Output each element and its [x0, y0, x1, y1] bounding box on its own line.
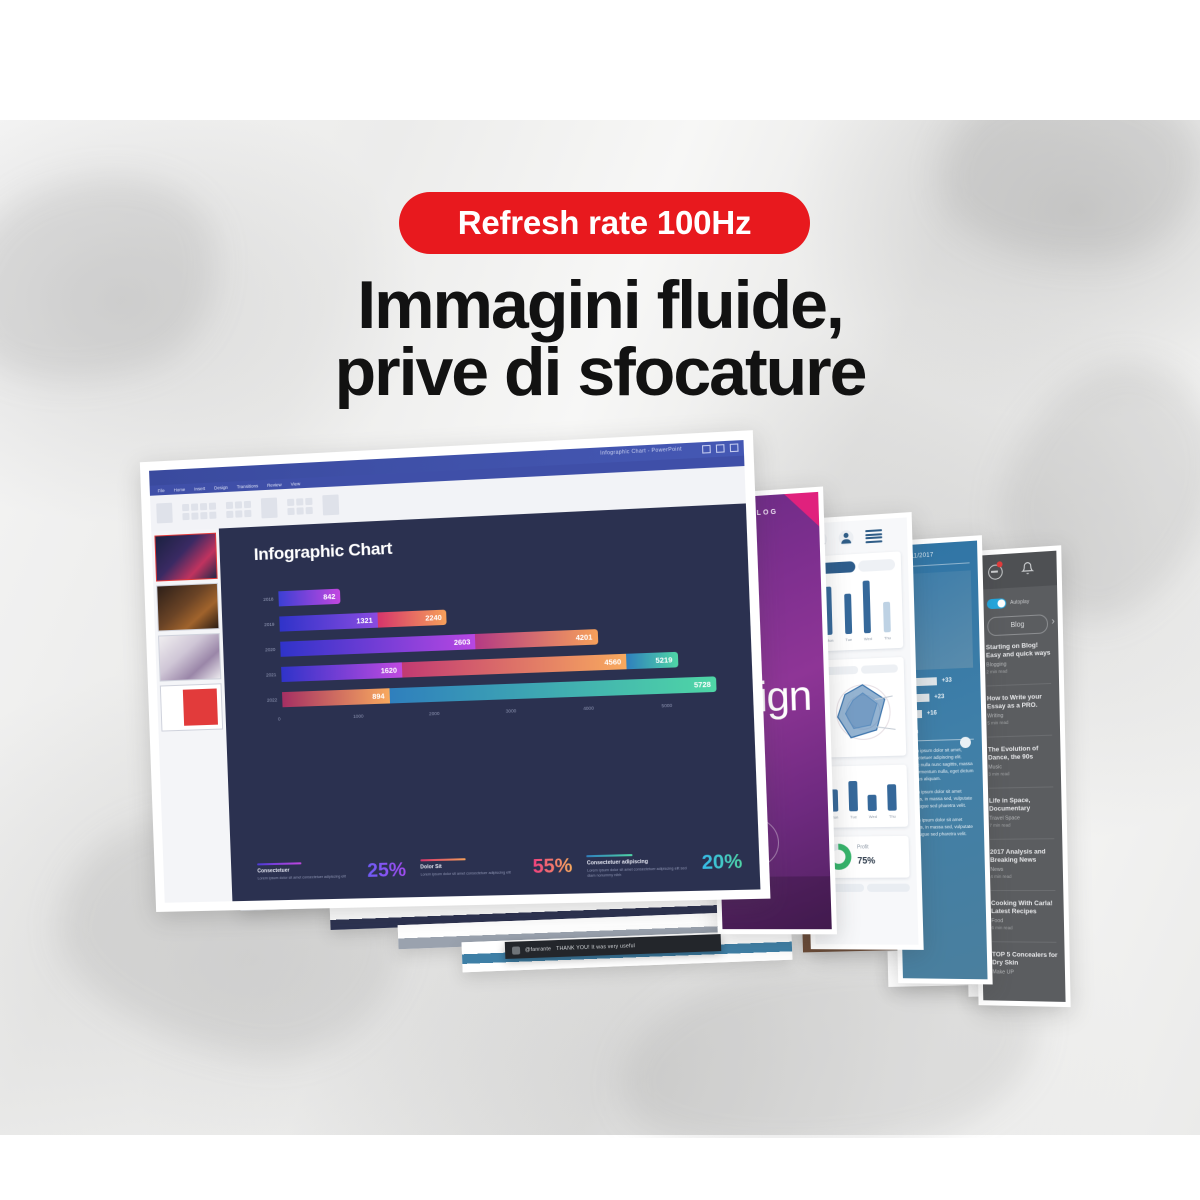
avatar — [512, 946, 520, 954]
stat-percent: 25% — [367, 859, 407, 882]
toast-message: THANK YOU! It was very useful — [556, 943, 635, 952]
stat-body: Lorem ipsum dolor sit amet consectetuer … — [420, 870, 526, 878]
axis-tick: Wed — [864, 636, 872, 641]
autoplay-toggle-row[interactable]: Autoplay — [975, 585, 1058, 616]
presentation-workspace: Infographic Chart 2018 842 2019 — [151, 503, 760, 902]
drawing-group[interactable] — [287, 498, 313, 515]
stat-value: +33 — [942, 678, 952, 684]
axis-tick: 1000 — [353, 711, 429, 719]
article-meta: 3 min read — [988, 770, 1054, 777]
slide-thumbnail-1[interactable] — [154, 533, 217, 582]
article-meta: 4 min read — [990, 874, 1056, 879]
slide-stats: Consectetuer Lorem ipsum dolor sit amet … — [257, 851, 743, 887]
editing-button[interactable] — [322, 494, 339, 515]
list-item[interactable]: The Evolution of Dance, the 90s Music 3 … — [978, 745, 1061, 777]
tab-stats[interactable] — [858, 559, 896, 572]
axis-tick: Thu — [884, 635, 891, 640]
blog-pill-label: Blog — [1011, 621, 1025, 629]
blog-pill-button[interactable]: Blog — [987, 614, 1048, 636]
promo-banner: Refresh rate 100Hz Immagini fluide, priv… — [0, 0, 1200, 1200]
slide-thumbnail-2[interactable] — [156, 583, 219, 632]
tab-view[interactable]: View — [291, 481, 301, 487]
bar-segment: 842 — [278, 589, 340, 607]
stat-percent: 55% — [532, 855, 573, 879]
article-category: Make UP — [992, 970, 1058, 977]
bar-segment: 894 — [282, 688, 390, 707]
tab-insert[interactable]: Insert — [194, 485, 205, 491]
article-meta: 5 min read — [987, 719, 1053, 726]
top-white-band — [0, 0, 1200, 120]
mini-bar-chart — [824, 776, 902, 812]
bar-segment: 2603 — [280, 634, 476, 657]
article-title: Starting on Blog! Easy and quick ways — [986, 641, 1052, 660]
profit-value: 75% — [857, 855, 875, 865]
profit-label: Profit — [857, 844, 875, 850]
tab-home[interactable]: Home — [174, 486, 186, 492]
divider — [987, 683, 1052, 687]
axis-tick: Tue — [850, 814, 857, 819]
bar-chart-axis: Mon Tue Wed Thu — [820, 635, 897, 643]
article-title: Life in Space, Documentary — [989, 797, 1055, 814]
refresh-rate-badge: Refresh rate 100Hz — [399, 192, 810, 254]
bottom-white-band — [0, 1138, 1200, 1200]
divider — [991, 890, 1056, 891]
bar-segment: 1620 — [281, 662, 402, 682]
menu-icon[interactable] — [865, 529, 882, 543]
article-meta: 6 min read — [991, 926, 1057, 932]
window-title: Infographic Chart - PowerPoint — [600, 446, 682, 456]
paragraph-group[interactable] — [226, 501, 252, 518]
notification-dot — [997, 561, 1003, 567]
axis-tick: 3000 — [506, 706, 584, 714]
divider — [992, 942, 1057, 944]
stat-block: Consectetuer adipiscing Lorem ipsum dolo… — [587, 851, 743, 879]
paste-button[interactable] — [156, 503, 173, 524]
article-category: Travel Space — [989, 815, 1055, 822]
axis-tick: Tue — [845, 637, 852, 642]
stat-label: Consectetuer — [257, 865, 361, 874]
row-category: 2021 — [246, 672, 281, 678]
slide-canvas[interactable]: Infographic Chart 2018 842 2019 — [219, 503, 761, 901]
font-group[interactable] — [182, 503, 216, 521]
row-category: 2022 — [247, 697, 282, 703]
slide-title: Infographic Chart — [253, 539, 392, 566]
axis-tick: Wed — [869, 814, 877, 819]
minimize-icon[interactable] — [702, 445, 711, 454]
list-item[interactable]: TOP 5 Concealers for Dry Skin Make UP — [982, 952, 1065, 977]
dark-screen-header — [974, 551, 1057, 590]
slide-thumbnail-3[interactable] — [158, 633, 221, 681]
radar-chart — [821, 678, 900, 749]
article-category: News — [990, 867, 1056, 873]
axis-tick: 0 — [278, 714, 353, 722]
list-item[interactable]: Starting on Blog! Easy and quick ways Bl… — [976, 641, 1059, 675]
stat-value: +16 — [927, 710, 937, 716]
stat-percent: 20% — [701, 851, 742, 875]
row-category: 2019 — [244, 622, 279, 628]
stat-accent-bar — [420, 858, 465, 861]
stat-block: Consectetuer Lorem ipsum dolor sit amet … — [257, 859, 406, 886]
bar-segment: 4201 — [475, 629, 598, 649]
axis-tick: 5000 — [661, 700, 740, 708]
badge-label: Refresh rate 100Hz — [458, 204, 752, 242]
page-title: Immagini fluide, prive di sfocature — [0, 272, 1200, 407]
presentation-window[interactable]: Infographic Chart - PowerPoint File Home… — [140, 430, 771, 912]
article-title: The Evolution of Dance, the 90s — [988, 745, 1054, 763]
vertical-bar-chart — [818, 577, 896, 635]
slide-thumbnail-4[interactable] — [160, 683, 223, 731]
footer-item[interactable] — [866, 884, 910, 892]
tab-buys[interactable] — [860, 664, 897, 674]
row-category: 2018 — [243, 596, 278, 603]
list-item[interactable]: Life in Space, Documentary Travel Space … — [979, 797, 1062, 829]
article-meta: 7 min read — [989, 822, 1055, 828]
bar-segment: 1321 — [279, 612, 378, 631]
stat-label: Consectetuer adipiscing — [587, 857, 696, 866]
shapes-button[interactable] — [261, 497, 278, 518]
bar-segment: 5219 — [626, 652, 678, 669]
bell-icon[interactable] — [1021, 561, 1034, 575]
tab-transitions[interactable]: Transitions — [237, 483, 259, 489]
maximize-icon[interactable] — [716, 444, 725, 453]
bar-segment: 5728 — [389, 676, 716, 703]
bar-segment: 4560 — [402, 654, 627, 678]
close-icon[interactable] — [730, 443, 739, 452]
list-item[interactable]: How to Write your Essay as a PRO. Writin… — [977, 693, 1060, 726]
divider — [989, 787, 1054, 789]
list-item[interactable]: 2017 Analysis and Breaking News News 4 m… — [980, 849, 1063, 880]
article-title: TOP 5 Concealers for Dry Skin — [992, 952, 1058, 969]
stat-accent-bar — [257, 862, 301, 865]
bar-segment: 2240 — [377, 610, 447, 628]
row-category: 2020 — [245, 647, 280, 653]
divider — [988, 735, 1053, 738]
autoplay-label: Autoplay — [1010, 599, 1029, 606]
axis-tick: Thu — [889, 814, 896, 819]
axis-tick: 4000 — [583, 703, 661, 711]
list-item[interactable]: Cooking With Carla! Latest Recipes Food … — [981, 900, 1064, 931]
stat-accent-bar — [587, 854, 633, 857]
corner-accent — [784, 492, 819, 529]
stat-value: +23 — [934, 694, 944, 700]
tab-review[interactable]: Review — [267, 482, 282, 488]
stat-body: Lorem ipsum dolor sit amet consectetuer … — [587, 866, 696, 879]
user-icon[interactable] — [839, 530, 854, 546]
presentation-body: Infographic Chart - PowerPoint File Home… — [149, 440, 760, 903]
stat-block: Dolor Sit Lorem ipsum dolor sit amet con… — [420, 855, 573, 883]
article-title: 2017 Analysis and Breaking News — [990, 849, 1056, 866]
chart-tabs[interactable] — [818, 559, 895, 574]
autoplay-toggle[interactable] — [987, 598, 1007, 609]
radar-tabs[interactable] — [821, 664, 898, 675]
window-controls[interactable] — [702, 443, 739, 453]
divider — [990, 838, 1055, 840]
article-category: Food — [991, 918, 1057, 924]
article-title: Cooking With Carla! Latest Recipes — [991, 900, 1057, 916]
toast-handle: @fanrante — [525, 946, 551, 953]
horizontal-bar-chart: 2018 842 2019 1321 2240 — [243, 568, 741, 722]
mini-chart-axis: Mon Tue Wed Thu — [825, 814, 902, 820]
stat-body: Lorem ipsum dolor sit amet consectetuer … — [258, 874, 362, 882]
axis-tick: 2000 — [429, 709, 506, 717]
tab-file[interactable]: File — [158, 488, 165, 493]
tab-design[interactable]: Design — [214, 484, 228, 490]
article-title: How to Write your Essay as a PRO. — [987, 693, 1053, 712]
stat-label: Dolor Sit — [420, 861, 526, 870]
